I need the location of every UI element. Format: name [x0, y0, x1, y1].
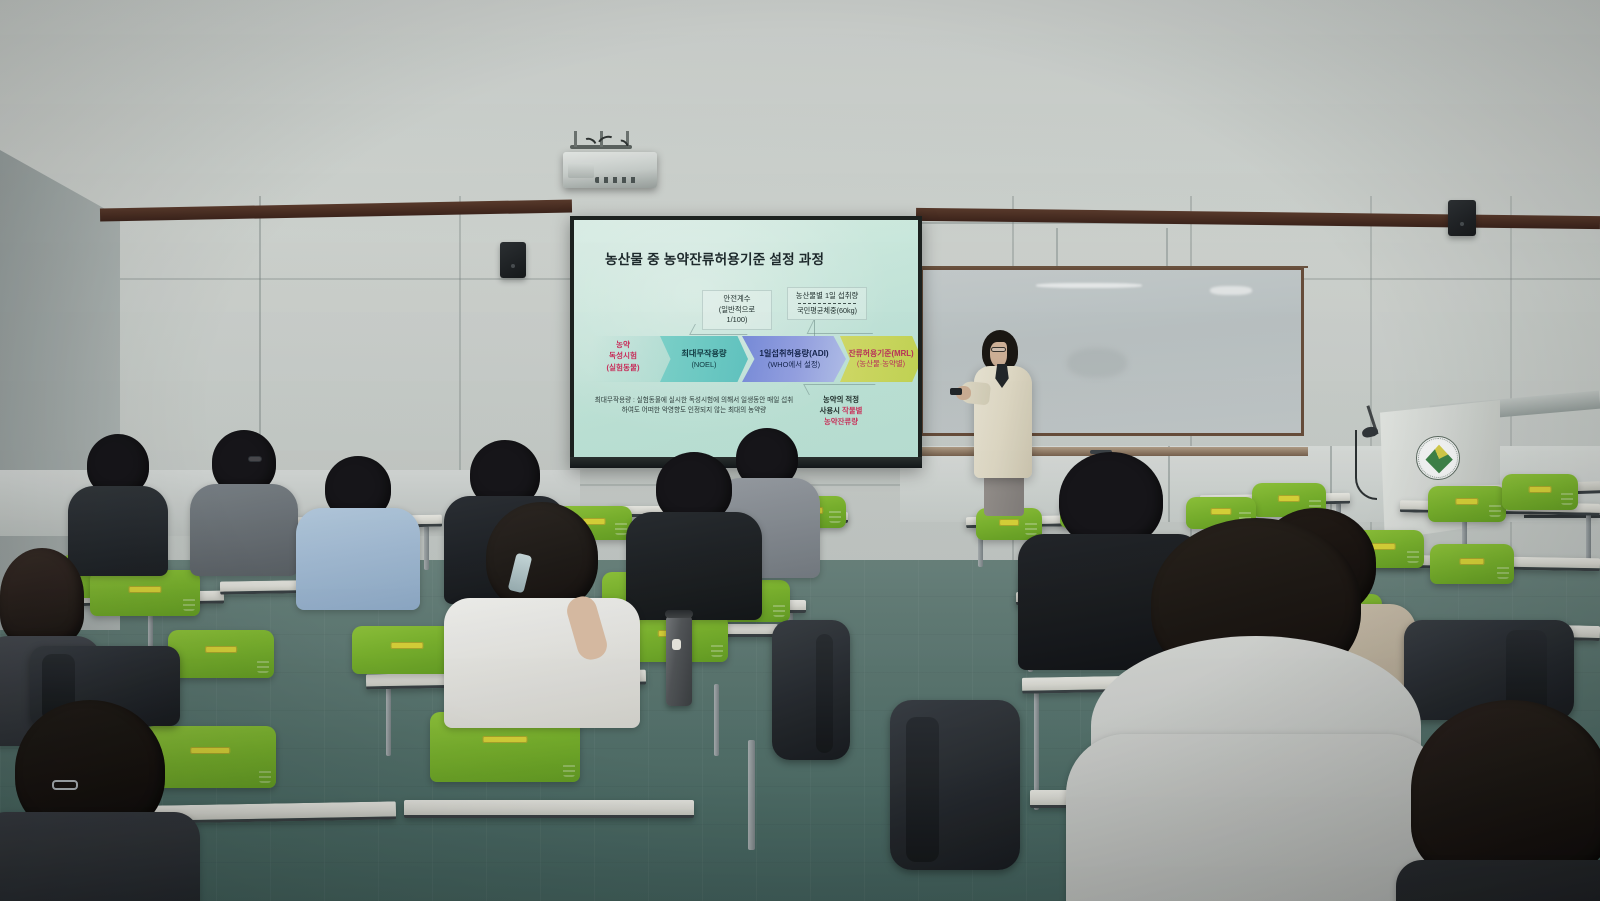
wall-speaker-left-icon	[500, 242, 526, 278]
chair-empty[interactable]	[1428, 486, 1506, 522]
desk-leg	[424, 526, 429, 570]
slide-content: 농산물 중 농약잔류허용기준 설정 과정 안전계수 (일반적으로 1/100) …	[574, 220, 918, 457]
whiteboard-top-panels	[918, 228, 1308, 268]
eyeglasses-icon	[52, 780, 78, 790]
slide-flow-diagram: 농약 독성시험 (실험동물) 최대무작용량 (NOEL) 1일섭취허용량(ADI…	[592, 336, 902, 382]
desk-row4-right	[404, 800, 694, 818]
student-gray-hoodie-front	[1066, 518, 1446, 901]
student-back-left-1	[68, 434, 168, 564]
backpack-center-floor[interactable]	[890, 700, 1020, 870]
slide-note-noel-definition: 최대무작용량 : 실험동물에 실시한 독성시험에 의해서 일생동안 매일 섭취 …	[594, 396, 794, 416]
chair-empty[interactable]	[1502, 474, 1578, 510]
connector-intake-to-mrl	[807, 320, 880, 334]
desk-leg	[714, 684, 719, 756]
slide-note-residue: 농약의 적정 사용시 작물별 농약잔류량	[786, 394, 896, 427]
slide-surface: 농산물 중 농약잔류허용기준 설정 과정 안전계수 (일반적으로 1/100) …	[574, 220, 918, 457]
projector-cables	[575, 136, 645, 166]
backpack-mid[interactable]	[772, 620, 850, 760]
student-white-top-woman	[444, 502, 640, 712]
student-foreground-right-edge	[1396, 700, 1600, 901]
thermal-tumbler[interactable]	[666, 616, 692, 706]
flow-start-label: 농약 독성시험 (실험동물)	[592, 339, 654, 373]
desk-leg	[748, 740, 755, 850]
flow-step-noel: 최대무작용량 (NOEL)	[660, 336, 748, 382]
lecture-hall-photo: 농산물 중 농약잔류허용기준 설정 과정 안전계수 (일반적으로 1/100) …	[0, 0, 1600, 901]
connector-intake-stem	[814, 320, 815, 336]
podium-cable	[1355, 430, 1377, 500]
desk-leg	[386, 684, 391, 756]
chair-row3-a[interactable]	[168, 630, 274, 678]
desk-leg	[1586, 512, 1591, 560]
slide-title: 농산물 중 농약잔류허용기준 설정 과정	[605, 248, 824, 268]
student-foreground-left	[0, 700, 200, 901]
fraction-rule	[798, 303, 856, 304]
presenter	[968, 330, 1048, 510]
presentation-remote	[950, 388, 962, 395]
student-back-left-2	[190, 430, 298, 564]
university-emblem-icon	[1416, 436, 1460, 480]
slide-box-daily-intake: 농산물별 1일 섭취량 국민평균체중(60kg)	[787, 287, 867, 320]
connector-mrl-to-note	[803, 384, 881, 395]
student-blue-shirt	[296, 456, 420, 600]
wall-speaker-right-icon	[1448, 200, 1476, 236]
connector-safety-to-noel	[689, 324, 753, 335]
flow-step-adi: 1일섭취허용량(ADI) (WHO에서 설정)	[742, 336, 846, 382]
chair-back-left-2[interactable]	[90, 570, 200, 616]
eyeglasses-icon	[248, 456, 262, 462]
flow-step-mrl: 잔류허용기준(MRL) (농산물·농약별)	[840, 336, 918, 382]
student-center-black	[626, 452, 762, 604]
